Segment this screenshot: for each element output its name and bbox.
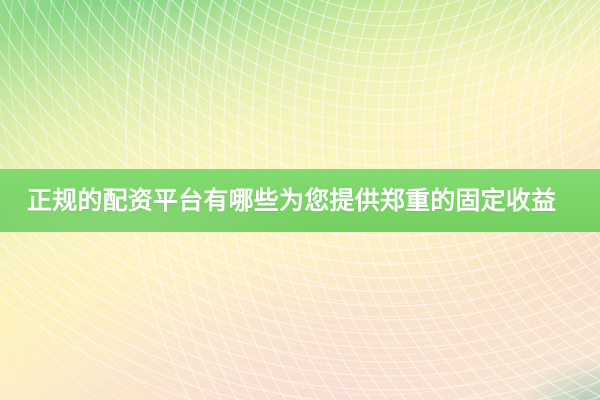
promo-banner: 正规的配资平台有哪些为您提供郑重的固定收益 [0, 0, 600, 400]
headline-band: 正规的配资平台有哪些为您提供郑重的固定收益 [0, 169, 600, 232]
headline-text: 正规的配资平台有哪些为您提供郑重的固定收益 [27, 188, 556, 213]
